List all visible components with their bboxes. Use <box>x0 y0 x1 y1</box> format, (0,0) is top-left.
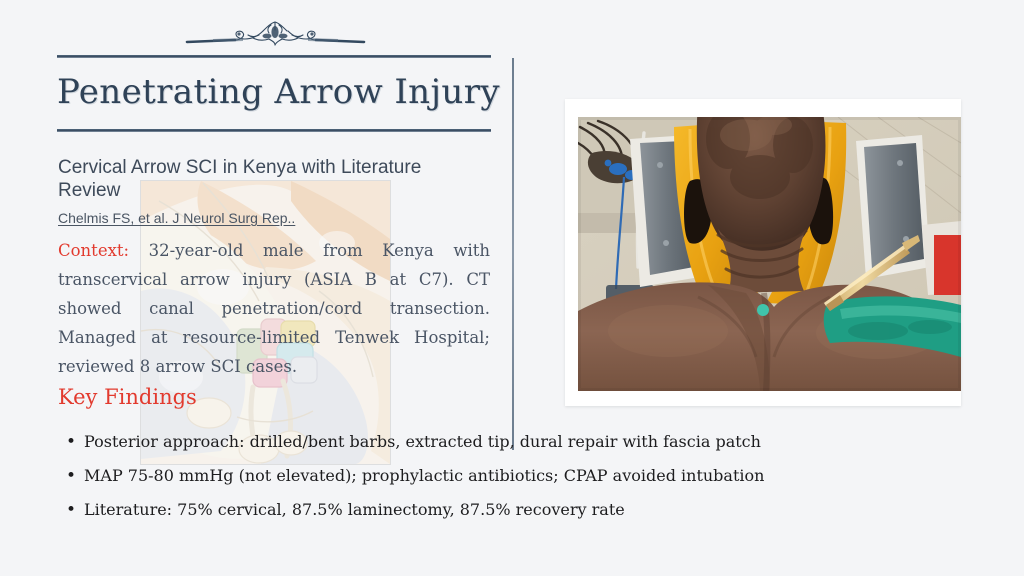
title-rule-bottom <box>57 129 491 132</box>
clinical-photo-frame <box>565 99 961 406</box>
key-findings-list: Posterior approach: drilled/bent barbs, … <box>62 425 954 527</box>
list-item: Posterior approach: drilled/bent barbs, … <box>84 425 954 459</box>
flourish-ornament-icon <box>183 18 368 52</box>
skin-marker-dot <box>757 304 769 316</box>
list-item: Literature: 75% cervical, 87.5% laminect… <box>84 493 954 527</box>
title-rule-top <box>57 55 491 58</box>
context-paragraph: Context: 32-year-old male from Kenya wit… <box>58 236 490 381</box>
key-findings-heading: Key Findings <box>58 383 197 411</box>
column-divider <box>512 58 514 450</box>
clinical-photo <box>578 117 961 391</box>
context-label: Context: <box>58 241 129 260</box>
subtitle: Cervical Arrow SCI in Kenya with Literat… <box>58 156 478 202</box>
page-title: Penetrating Arrow Injury <box>57 63 491 121</box>
citation-link[interactable]: Chelmis FS, et al. J Neurol Surg Rep.. <box>58 209 295 227</box>
context-body: 32-year-old male from Kenya with transce… <box>58 241 490 376</box>
slide-canvas: Penetrating Arrow Injury <box>0 0 1024 576</box>
list-item: MAP 75-80 mmHg (not elevated); prophylac… <box>84 459 954 493</box>
